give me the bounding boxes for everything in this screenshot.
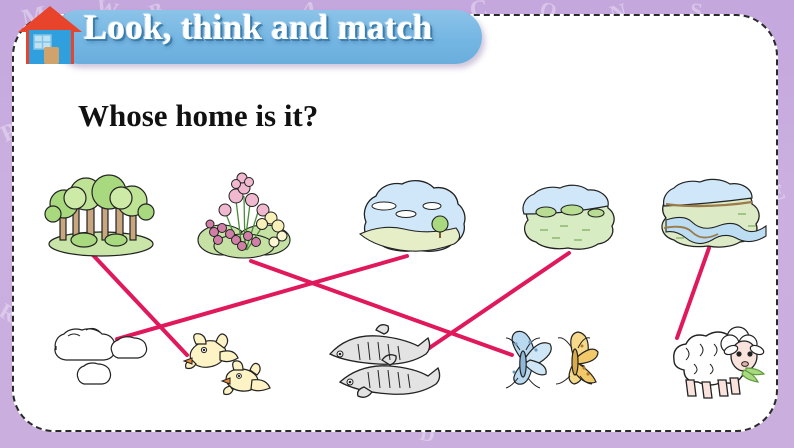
birds-icon [176, 330, 280, 402]
habitat-grassland[interactable] [512, 180, 624, 258]
sky-landscape-icon [344, 176, 472, 262]
forest-icon [42, 168, 160, 260]
habitat-river[interactable] [652, 176, 768, 258]
fish-icon [320, 320, 444, 400]
animal-clouds[interactable] [40, 316, 160, 392]
animal-butterflies[interactable] [496, 326, 608, 398]
habitat-sky[interactable] [344, 176, 472, 262]
habitat-forest[interactable] [42, 168, 160, 260]
butterflies-icon [496, 326, 608, 398]
clouds-icon [40, 316, 160, 392]
page-title: Look, think and match [84, 8, 433, 48]
animal-sheep[interactable] [660, 318, 770, 404]
house-icon [14, 2, 86, 68]
grassland-icon [512, 180, 624, 258]
river-landscape-icon [652, 176, 768, 258]
flower-garden-icon [192, 166, 302, 262]
question-text: Whose home is it? [78, 98, 318, 134]
animal-fish[interactable] [320, 320, 444, 400]
animal-birds[interactable] [176, 330, 280, 402]
sheep-icon [660, 318, 770, 404]
habitat-flowers[interactable] [192, 166, 302, 262]
